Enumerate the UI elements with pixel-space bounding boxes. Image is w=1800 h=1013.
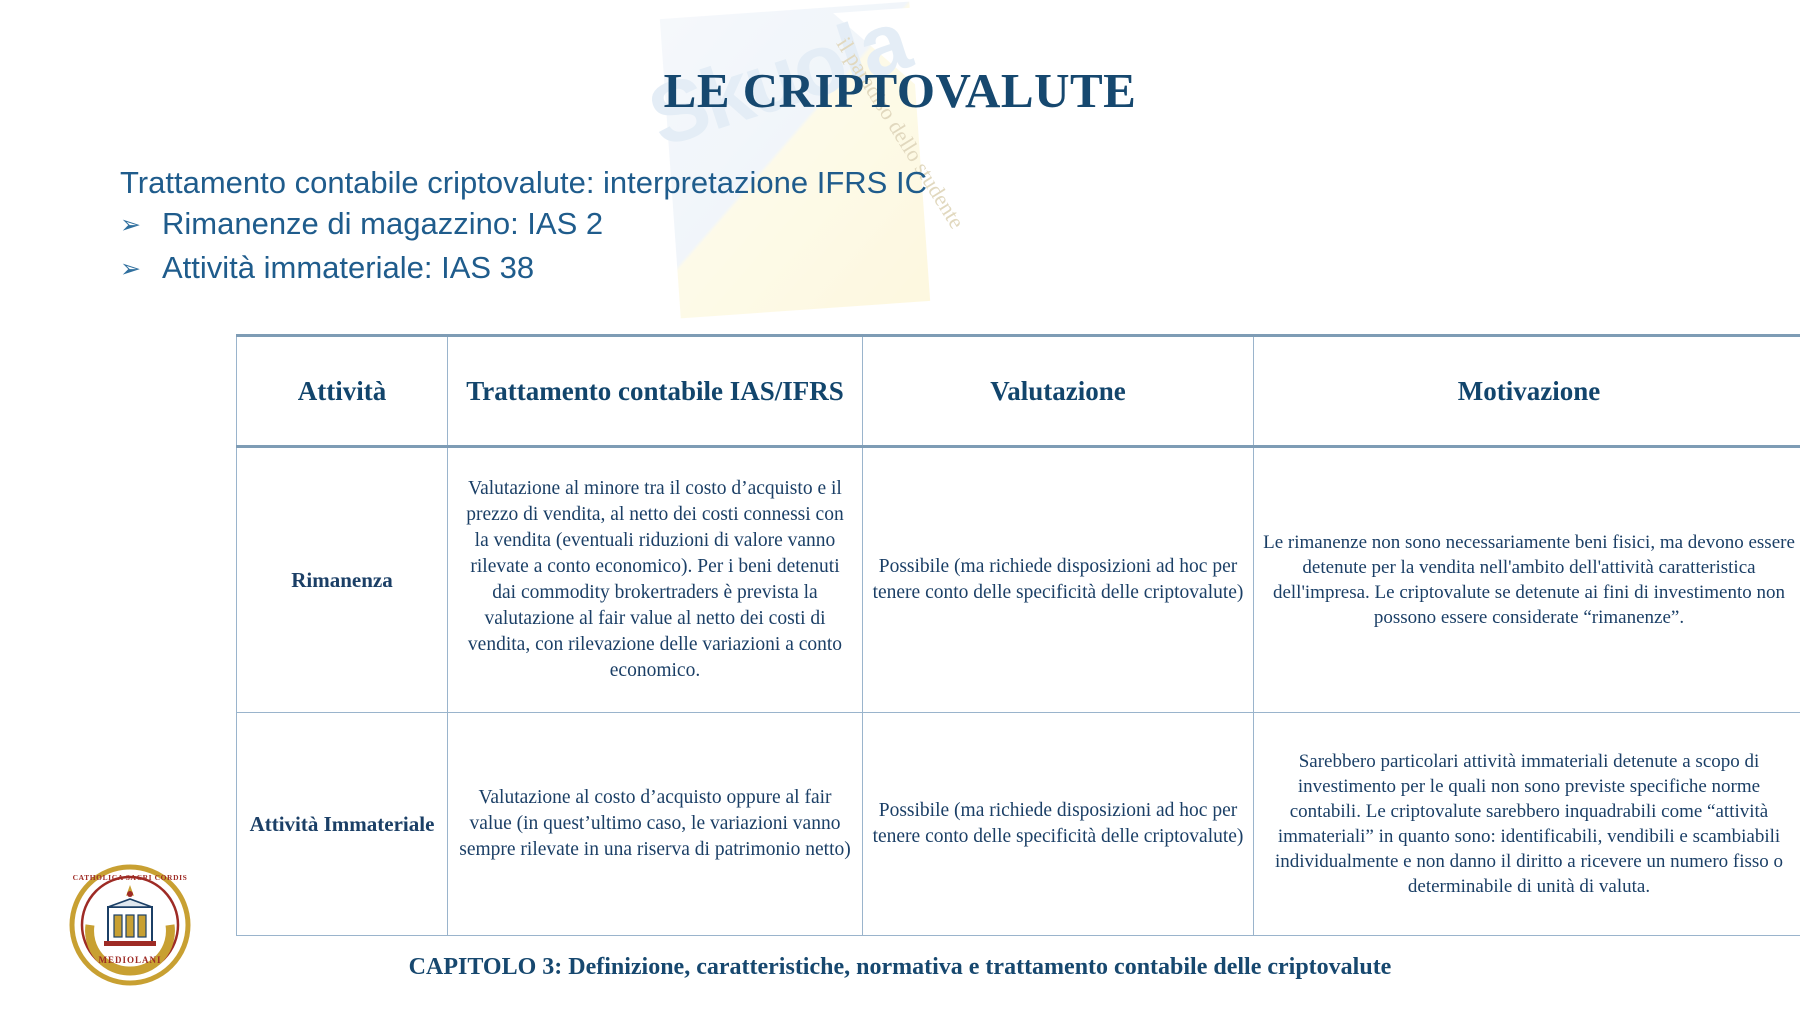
cell-motivazione: Le rimanenze non sono necessariamente be…: [1254, 447, 1800, 713]
column-header-trattamento: Trattamento contabile IAS/IFRS: [448, 336, 863, 447]
intro-bullet-label: Rimanenze di magazzino: IAS 2: [162, 203, 603, 244]
arrow-bullet-icon: ➢: [120, 203, 162, 247]
svg-text:MEDIOLANI: MEDIOLANI: [98, 955, 161, 965]
intro-lead-text: Trattamento contabile criptovalute: inte…: [120, 163, 927, 203]
intro-bullet-label: Attività immateriale: IAS 38: [162, 247, 534, 288]
cell-attivita: Attività Immateriale: [237, 713, 448, 936]
intro-bullet-item: ➢ Rimanenze di magazzino: IAS 2: [120, 203, 927, 247]
column-header-attivita: Attività: [237, 336, 448, 447]
cell-attivita: Rimanenza: [237, 447, 448, 713]
arrow-bullet-icon: ➢: [120, 247, 162, 291]
intro-block: Trattamento contabile criptovalute: inte…: [120, 163, 927, 291]
column-header-motivazione: Motivazione: [1254, 336, 1800, 447]
cell-valutazione: Possibile (ma richiede disposizioni ad h…: [863, 713, 1254, 936]
comparison-table: Attività Trattamento contabile IAS/IFRS …: [236, 334, 1800, 936]
intro-bullet-item: ➢ Attività immateriale: IAS 38: [120, 247, 927, 291]
university-crest-logo: MEDIOLANI CATHOLICA SACRI CORDIS: [68, 863, 192, 987]
cell-trattamento: Valutazione al minore tra il costo d’acq…: [448, 447, 863, 713]
cell-motivazione: Sarebbero particolari attività immateria…: [1254, 713, 1800, 936]
footer-caption: CAPITOLO 3: Definizione, caratteristiche…: [0, 954, 1800, 981]
table-row: Rimanenza Valutazione al minore tra il c…: [237, 447, 1800, 713]
svg-text:CATHOLICA SACRI CORDIS: CATHOLICA SACRI CORDIS: [73, 873, 188, 882]
page-title: LE CRIPTOVALUTE: [0, 62, 1800, 119]
table-header-row: Attività Trattamento contabile IAS/IFRS …: [237, 336, 1800, 447]
cell-valutazione: Possibile (ma richiede disposizioni ad h…: [863, 447, 1254, 713]
column-header-valutazione: Valutazione: [863, 336, 1254, 447]
cell-trattamento: Valutazione al costo d’acquisto oppure a…: [448, 713, 863, 936]
table-row: Attività Immateriale Valutazione al cost…: [237, 713, 1800, 936]
